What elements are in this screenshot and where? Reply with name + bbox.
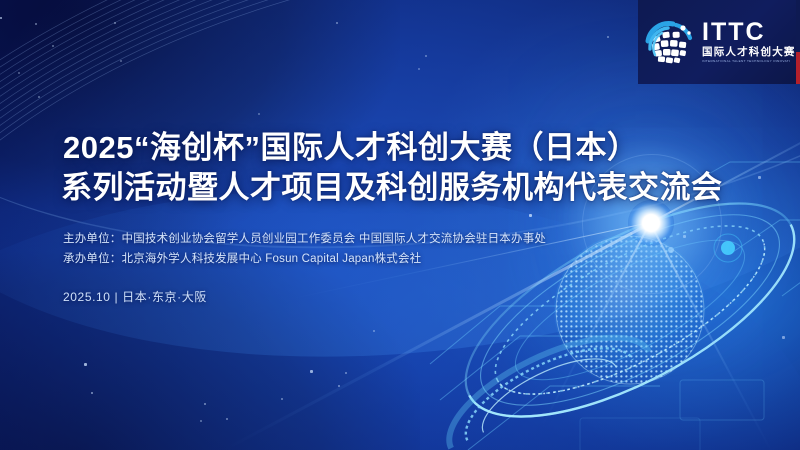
logo-red-accent — [796, 0, 800, 84]
logo-name-cn: 国际人才科创大赛 — [702, 47, 796, 58]
organizer-line-coorganizer: 承办单位：北京海外学人科技发展中心 Fosun Capital Japan株式会… — [63, 249, 683, 269]
logo-text-block: ITTC 国际人才科创大赛 INTERNATIONAL TALENT TECHN… — [702, 20, 796, 64]
poster-content: 2025“海创杯”国际人才科创大赛（日本） 系列活动暨人才项目及科创服务机构代表… — [63, 128, 683, 305]
organizer-line-host: 主办单位：中国技术创业协会留学人员创业园工作委员会 中国国际人才交流协会驻日本办… — [63, 229, 683, 249]
poster-title-line2: 系列活动暨人才项目及科创服务机构代表交流会 — [61, 168, 683, 208]
ittc-logo: ITTC 国际人才科创大赛 INTERNATIONAL TALENT TECHN… — [638, 0, 800, 84]
poster-title-line1: 2025“海创杯”国际人才科创大赛（日本） — [63, 128, 683, 168]
event-date-location: 2025.10 | 日本·东京·大阪 — [63, 288, 683, 305]
logo-wordmark: ITTC — [702, 20, 796, 45]
globe-mesh-icon — [644, 16, 696, 68]
logo-name-en: INTERNATIONAL TALENT TECHNOLOGY INNOVATI… — [702, 59, 790, 64]
organizer-block: 主办单位：中国技术创业协会留学人员创业园工作委员会 中国国际人才交流协会驻日本办… — [63, 229, 683, 269]
poster-canvas: ITTC 国际人才科创大赛 INTERNATIONAL TALENT TECHN… — [0, 0, 800, 450]
